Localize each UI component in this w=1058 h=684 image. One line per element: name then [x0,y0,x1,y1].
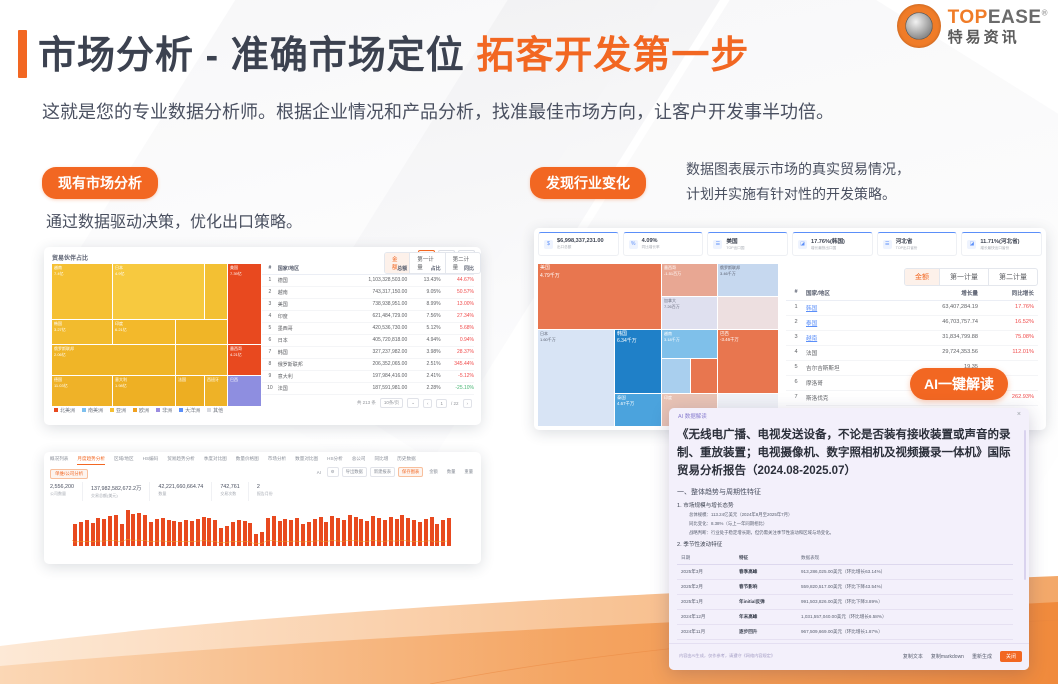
screenshot-monthly-trend-dashboard[interactable]: 概况列表 月度趋势分析 区域/地区 HS编码 贸易趋势分析 季度对比图 数量价格… [44,452,481,564]
col-growth: 增长量 [888,289,978,297]
report-bullet: 同比变化：8.38%（与上一年同期相比） [677,520,1021,527]
measure-quantity[interactable]: 数量 [444,468,459,476]
cell-total: 405,720,818.00 [335,337,408,344]
col-feature: 特征 [739,555,801,561]
stat-card[interactable]: ☰美国TOP出口国 [707,232,788,256]
caption-right: 数据图表展示市场的真实贸易情况， 计划并实施有针对性的开发策略。 [686,157,910,207]
cell-share: 7.56% [407,313,440,320]
cell-share: 9.05% [407,289,440,296]
page-subtitle: 这就是您的专业数据分析师。根据企业情况和产品分析，找准最佳市场方向，让客户开发事… [42,98,834,124]
cell-index: 7 [262,349,278,356]
kpi-row: 2,556,200公司数量 137,982,582,672.2万交易总额(美元)… [50,482,289,501]
report-bullet: 总体规模：113.24亿美元（2024年8月至2025年7月） [677,511,1021,518]
cell-country[interactable]: 斯洛伐克 [806,394,888,402]
page-title-highlight: 拓客开发第一步 [476,35,749,77]
export-button[interactable]: 导出数据 [342,467,367,477]
cell-total: 197,984,416.00 [335,373,408,380]
kpi-card: 742,761交易次数 [220,482,249,501]
cell-yoy: 0.94% [441,337,474,344]
treemap-cell-value: 4.67千万 [617,401,634,407]
col-data: 数据表现 [801,555,1013,561]
table-row[interactable]: 8俄罗斯联邦206,352,065.002.51%345.44% [262,359,474,371]
kpi-value: 2 [257,484,273,490]
treemap-cell-value: 7.26百万 [664,304,680,310]
cell-total: 743,317,150.00 [335,289,408,296]
measure-weight[interactable]: 重量 [461,468,476,476]
report-section-heading: 一、整体趋势与周期性特征 [677,487,1021,497]
treemap-cell[interactable]: 泰国4.67千万 [615,394,661,426]
treemap-cell-value: 7.4亿 [54,271,64,277]
percent-icon: % [629,240,638,249]
legend-label: 大洋洲 [185,408,200,414]
cell-data: 991,503,826.00美元（环比下降3.89%） [801,599,1013,605]
cell-total: 187,591,981.00 [335,385,408,392]
stat-card[interactable]: ◪11.71%(河北省)增长最快出口省份 [961,232,1042,256]
table-row[interactable]: 9意大利197,984,416.002.41%-5.12% [262,371,474,383]
cell-index: 4 [262,313,278,320]
cell-date: 2025年2月 [677,584,739,590]
cell-country: 德国 [278,277,335,284]
current-page[interactable]: 1 [436,399,447,408]
caption-right-line1: 数据图表展示市场的真实贸易情况， [686,157,910,182]
stat-label: 同比增长率 [642,245,660,250]
col-total: 总额 [335,265,408,272]
chart-icon: ◪ [798,240,807,249]
col-country: 国家/地区 [278,265,335,272]
cell-feature: 年末高峰 [739,614,801,620]
monthly-bar-chart[interactable] [72,510,452,554]
treemap-cell[interactable]: 法国 [176,376,204,406]
logo-top-orange: TOP [948,7,988,28]
kpi-card: 137,982,582,672.2万交易总额(美元) [91,482,150,501]
kpi-value: 42,221,660,664.74 [158,484,203,490]
copy-text-button[interactable]: 复制文本 [903,653,923,660]
segment-amount[interactable]: 金额 [905,269,940,285]
cell-index: 3 [786,334,806,342]
cell-total: 1,103,328,503.00 [335,277,408,284]
stat-card[interactable]: ◪17.76%(韩国)增长最快出口国 [792,232,873,256]
legend-label: 非洲 [162,408,172,414]
treemap-cell-value: 1.60千万 [540,337,556,343]
cell-yoy: 5.68% [441,325,474,332]
brand-logo: TOPEASE® 特易资讯 [897,4,1048,48]
report-subheading: 2. 季节性波动特征 [677,540,1021,548]
cell-share: 2.51% [407,361,440,368]
treemap-cell-label: 韩国 [617,331,627,337]
stat-value: 河北省 [896,237,918,245]
treemap-cell[interactable]: 美国4.79千万 [538,264,661,329]
col-date: 日期 [677,555,739,561]
treemap-cell-label: 美国 [540,265,550,271]
table-row[interactable]: 2泰国46,703,757.7416.52% [786,316,1038,331]
table-row[interactable]: 10法国187,591,981.002.28%-25.10% [262,383,474,395]
cell-index: 3 [262,301,278,308]
treemap-cell [176,345,227,375]
cell-data: 559,820,517.00美元（环比下降43.54%） [801,584,1013,590]
ai-icon[interactable]: AI [314,469,324,476]
table-row[interactable]: 7韩国327,237,982.003.98%28.37% [262,347,474,359]
tab-4[interactable]: 贸易趋势分析 [167,456,195,465]
treemap-cell-label: 法国 [178,377,186,383]
title-accent-bar [18,30,27,78]
treemap-cell-value: 6.34千万 [617,338,637,344]
cell-growth: 46,703,757.74 [888,319,978,327]
ai-report-dialog[interactable]: AI 数据解读 × 《无线电广播、电视发送设备，不论是否装有接收装置或声音的录制… [669,408,1029,670]
table-header: # 国家/地区 增长量 同比增长 [786,286,1038,301]
cell-share: 2.41% [407,373,440,380]
cell-yoy: 13.00% [441,301,474,308]
dialog-disclaimer: 内容由AI生成，仅作参考，请遵守《网络内容规定》 [679,653,775,659]
total-pages: / 22 [451,401,459,406]
cell-yoy: 27.34% [441,313,474,320]
treemap-cell[interactable]: 加拿大7.26百万 [662,297,717,329]
treemap-cell [176,320,227,344]
treemap-cell-value: 7.39亿 [230,271,242,277]
page-header: 市场分析 - 准确市场定位 拓客开发第一步 这就是您的专业数据分析师。根据企业情… [0,0,1058,140]
tab-12[interactable]: 历史数据 [397,456,415,465]
legend-item: 非洲 [156,407,172,414]
cell-country[interactable]: 摩洛哥 [806,379,888,387]
treemap-cell[interactable]: 越南3.18千万 [662,330,717,358]
legend-label: 北美洲 [60,408,75,414]
dollar-icon: $ [544,240,553,249]
dialog-header: AI 数据解读 × [669,408,1029,425]
cell-date: 2025年1月 [677,599,739,605]
legend-item: 大洋洲 [179,407,200,414]
treemap-cell[interactable]: 韩国6.34千万 [615,330,661,393]
cell-yoy: 112.01% [978,349,1034,357]
table-header: # 国家/地区 总额 占比 同比 [262,263,474,275]
screenshot-trade-partner-share[interactable]: 贸易伙伴占比 ▦ ⧉ ⤓ 越南7.4亿 日本4.9亿 美国7.39亿 韩国3.2… [44,247,481,425]
legend-item: 南美洲 [82,407,103,414]
stat-value: 美国 [726,237,744,245]
treemap-cell [691,359,717,393]
cell-date: 2024年12月 [677,614,739,620]
cell-data: 967,509,669.00美元（环比增长1.87%） [801,629,1013,635]
treemap-legend: 北美洲 南美洲 亚洲 欧洲 非洲 大洋洲 其他 [54,407,223,414]
tab-10[interactable]: 总公司 [352,456,366,465]
table-row[interactable]: 3美国738,938,951.008.99%13.00% [262,299,474,311]
treemap-cell[interactable]: 俄罗斯联邦3.46千万 [718,264,778,296]
chevron-down-icon[interactable]: ⌄ [407,398,419,408]
page-size-select[interactable]: 10条/页 [380,398,403,408]
table-row[interactable]: 4法国29,724,353.56112.01% [786,346,1038,361]
cell-feature: 春季高峰 [739,569,801,575]
kpi-value: 742,761 [220,484,240,490]
treemap-cell-label: 西班牙 [207,377,219,383]
cell-yoy: 50.57% [441,289,474,296]
kpi-card: 2,556,200公司数量 [50,482,83,501]
col-country: 国家/地区 [806,289,888,297]
cell-country: 韩国 [278,349,335,356]
stat-card[interactable]: ☰河北省TOP出口省份 [877,232,958,256]
cell-index: 4 [786,349,806,357]
kpi-label: 报告月份 [257,491,273,497]
stat-card[interactable]: %4.09%同比增长率 [623,232,704,256]
logo-cn-name: 特易资讯 [948,30,1048,45]
cell-feature: 年initial反弹 [739,599,801,605]
ai-interpret-badge[interactable]: AI一键解读 [910,368,1008,400]
legend-item: 北美洲 [54,407,75,414]
caption-left: 通过数据驱动决策，优化出口策略。 [46,208,302,232]
measure-amount[interactable]: 金额 [426,468,441,476]
stat-value: 11.71%(河北省) [980,237,1019,245]
treemap-cell[interactable]: 日本4.9亿 [113,264,204,319]
treemap-cell-label: 印度 [664,395,672,401]
cell-total: 420,536,730.00 [335,325,408,332]
badge-industry-change: 发现行业变化 [530,167,646,199]
cell-country: 印度 [278,313,335,320]
kpi-card: 2报告月份 [257,482,281,501]
treemap-cell-value: 6.21亿 [115,327,127,333]
list-icon: ☰ [713,240,722,249]
cell-yoy: 44.67% [441,277,474,284]
table-row: 2025年2月春节影响559,820,517.00美元（环比下降43.54%） [677,580,1013,595]
cell-feature: 春节影响 [739,584,801,590]
analysis-chip[interactable]: 单维/公司分析 [50,469,88,479]
tab-2[interactable]: 区域/地区 [114,456,134,465]
regenerate-button[interactable]: 重新生成 [972,653,992,660]
cell-yoy: 16.52% [978,319,1034,327]
chart-icon: ◪ [967,240,976,249]
kpi-label: 公司数量 [50,491,74,497]
cell-index: 6 [262,337,278,344]
close-button[interactable]: 关闭 [1000,651,1022,662]
legend-item: 亚洲 [110,407,126,414]
treemap-cell-value: 2.06亿 [54,352,66,358]
cell-country[interactable]: 法国 [806,349,888,357]
cell-index: 9 [262,373,278,380]
prev-page-button[interactable]: ‹ [423,399,433,408]
cell-index: 5 [262,325,278,332]
cell-country: 美国 [278,301,335,308]
measure-segmented-control[interactable]: 金额 第一计量 第二计量 [904,268,1038,286]
legend-label: 其他 [213,408,223,414]
cell-total: 327,237,982.00 [335,349,408,356]
report-bullet: 战略判断：行业处于稳定增长期，但仍需关注季节性波动和区域与场变化。 [677,529,1021,536]
legend-label: 亚洲 [116,408,126,414]
treemap-cell[interactable]: 巴西-3.46千万 [718,330,778,393]
legend-item: 欧洲 [133,407,149,414]
cell-share: 13.43% [407,277,440,284]
table-row: 2024年11月逐步回升967,509,669.00美元（环比增长1.87%） [677,625,1013,640]
cell-index: 6 [786,379,806,387]
logo-top-gray: EASE [988,7,1042,28]
cell-yoy: -5.12% [441,373,474,380]
stat-value: 17.76%(韩国) [811,237,845,245]
treemap-cell[interactable]: 德国11.03亿 [52,376,112,406]
cell-data: 913,286,025.00美元（环比增长63.14%） [801,569,1013,575]
tab-11[interactable]: 同比增 [375,456,389,465]
tab-5[interactable]: 季度对比图 [204,456,227,465]
tab-6[interactable]: 数量价格图 [236,456,259,465]
stat-label: 增长最快出口省份 [980,246,1019,251]
page-title-main: 市场分析 - 准确市场定位 [38,35,465,77]
treemap-cell-value: -1.51百万 [664,271,681,277]
treemap-cell-value: 3.27亿 [54,327,66,333]
tab-0[interactable]: 概况列表 [50,456,68,465]
table-row[interactable]: 3越南31,834,799.8875.08% [786,331,1038,346]
col-yoy: 同比 [441,265,474,272]
caption-right-line2: 计划并实施有针对性的开发策略。 [686,182,910,207]
stat-label: TOP出口省份 [896,246,918,251]
treemap-cell [718,297,778,329]
cell-total: 621,484,729.00 [335,313,408,320]
treemap-cell [205,264,227,319]
treemap-cell-label: 巴西 [230,377,238,383]
treemap-cell[interactable]: 俄罗斯联邦2.06亿 [52,345,175,375]
cell-yoy: 345.44% [441,361,474,368]
close-icon[interactable]: × [1017,411,1021,418]
badge-current-market-analysis: 现有市场分析 [42,167,158,199]
report-title: 《无线电广播、电视发送设备，不论是否装有接收装置或声音的录制、重放装置；电视摄像… [677,426,1021,480]
cell-yoy: 75.08% [978,334,1034,342]
tab-7[interactable]: 市场分析 [268,456,286,465]
treemap-cell[interactable]: 印度6.21亿 [113,320,175,344]
cell-date: 2025年3月 [677,569,739,575]
tab-1[interactable]: 月度趋势分析 [77,456,105,465]
kpi-label: 交易次数 [220,491,240,497]
cell-index: 5 [786,364,806,372]
table-pagination[interactable]: 共 213 条 10条/页 ⌄ ‹ 1 / 22 › [262,395,474,411]
trade-partner-table: # 国家/地区 总额 占比 同比 1德国1,103,328,503.0013.4… [262,263,474,411]
table-row[interactable]: 1韩国63,407,284.1917.76% [786,301,1038,316]
treemap-cell-value: 3.18千万 [664,337,680,343]
growth-treemap-chart: 美国4.79千万 墨西哥-1.51百万 加拿大7.26百万 俄罗斯联邦3.46千… [538,264,778,426]
cell-country[interactable]: 韩国 [806,304,888,312]
tab-8[interactable]: 数量对比图 [295,456,318,465]
treemap-cell-value: 4.21亿 [230,352,242,358]
cell-country: 墨西哥 [278,325,335,332]
cell-yoy: 17.76% [978,304,1034,312]
cell-country: 法国 [278,385,335,392]
copy-markdown-button[interactable]: 复制markdown [931,653,964,660]
table-row: 2025年3月春季高峰913,286,025.00美元（环比增长63.14%） [677,565,1013,580]
table-header: 日期 特征 数据表现 [677,552,1013,565]
table-row[interactable]: 4印度621,484,729.007.56%27.34% [262,311,474,323]
cell-country[interactable]: 泰国 [806,319,888,327]
dialog-footer: 内容由AI生成，仅作参考，请遵守《网络内容规定》 复制文本 复制markdown… [669,643,1029,670]
treemap-cell[interactable]: 意大利1.98亿 [113,376,175,406]
new-report-button[interactable]: 新建报表 [370,467,395,477]
treemap-cell[interactable]: 墨西哥4.21亿 [228,345,261,375]
kpi-label: 数量 [158,491,203,497]
stat-label: TOP出口国 [726,246,744,251]
logo-ring-icon [897,4,941,48]
cell-country: 俄罗斯联邦 [278,361,335,368]
dialog-body: 《无线电广播、电视发送设备，不论是否装有接收装置或声音的录制、重放装置；电视摄像… [677,426,1021,640]
cell-country: 日本 [278,337,335,344]
cell-index: 10 [262,385,278,392]
legend-label: 南美洲 [88,408,103,414]
kpi-value: 2,556,200 [50,484,74,490]
dashboard-actions[interactable]: AI ⚙ 导出数据 新建报表 保存图表 金额 数量 重量 [314,467,476,477]
legend-label: 欧洲 [139,408,149,414]
table-row[interactable]: 2越南743,317,150.009.05%50.57% [262,287,474,299]
cell-index: 8 [262,361,278,368]
treemap-cell[interactable]: 墨西哥-1.51百万 [662,264,717,296]
cell-country: 越南 [278,289,335,296]
kpi-value: 137,982,582,672.2万 [91,484,141,492]
list-icon: ☰ [883,240,892,249]
cell-index: 2 [786,319,806,327]
cell-total: 206,352,065.00 [335,361,408,368]
treemap-cell[interactable]: 日本1.60千万 [538,330,614,426]
report-table: 日期 特征 数据表现 2025年3月春季高峰913,286,025.00美元（环… [677,552,1013,640]
cell-total: 738,938,951.00 [335,301,408,308]
save-chart-button[interactable]: 保存图表 [398,467,423,477]
settings-icon[interactable]: ⚙ [327,467,339,477]
cell-growth: 31,834,799.88 [888,334,978,342]
segment-qty1[interactable]: 第一计量 [940,269,989,285]
cell-country[interactable]: 越南 [806,334,888,342]
cell-share: 4.94% [407,337,440,344]
stat-card[interactable]: $$6,998,337,231.00出口总额 [538,232,619,256]
tab-9[interactable]: HS分析 [327,456,343,465]
next-page-button[interactable]: › [463,399,473,408]
cell-yoy: 28.37% [441,349,474,356]
table-row[interactable]: 1德国1,103,328,503.0013.43%44.67% [262,275,474,287]
treemap-cell-value: 11.03亿 [54,383,68,389]
legend-item: 其他 [207,407,223,414]
treemap-cell-value: 4.9亿 [115,271,125,277]
stat-label: 出口总额 [557,245,604,250]
treemap-cell[interactable]: 美国7.39亿 [228,264,261,344]
stat-value: $6,998,337,231.00 [557,238,604,244]
treemap-cell-value: -3.46千万 [720,337,739,343]
cell-date: 2024年11月 [677,629,739,635]
logo-wordmark: TOPEASE® 特易资讯 [948,8,1048,45]
kpi-label: 交易总额(美元) [91,493,141,499]
table-row[interactable]: 5墨西哥420,536,730.005.12%5.68% [262,323,474,335]
treemap-chart: 越南7.4亿 日本4.9亿 美国7.39亿 韩国3.27亿 印度6.21亿 俄罗… [52,264,257,402]
table-row[interactable]: 6日本405,720,818.004.94%0.94% [262,335,474,347]
dialog-scrollbar[interactable] [1024,430,1026,580]
cell-country[interactable]: 吉尔吉斯斯坦 [806,364,888,372]
total-count: 共 213 条 [357,400,376,406]
dialog-actions[interactable]: 复制文本 复制markdown 重新生成 关闭 [903,651,1022,662]
trend-line [72,510,452,554]
cell-share: 3.98% [407,349,440,356]
cell-index: 7 [786,394,806,402]
dashboard-tabs[interactable]: 概况列表 月度趋势分析 区域/地区 HS编码 贸易趋势分析 季度对比图 数量价格… [50,456,416,465]
kpi-card: 42,221,660,664.74数量 [158,482,212,501]
treemap-cell[interactable]: 西班牙 [205,376,227,406]
treemap-cell [662,359,690,393]
stat-label: 增长最快出口国 [811,246,845,251]
treemap-cell[interactable]: 巴西 [228,376,261,406]
treemap-cell[interactable]: 韩国3.27亿 [52,320,112,344]
col-index: # [786,289,806,297]
cell-growth: 29,724,353.56 [888,349,978,357]
cell-share: 2.28% [407,385,440,392]
table-row: 2024年12月年末高峰1,031,557,040.00美元（环比增长6.58%… [677,610,1013,625]
tab-3[interactable]: HS编码 [143,456,159,465]
treemap-cell[interactable]: 越南7.4亿 [52,264,112,319]
table-row: 2025年1月年initial反弹991,503,826.00美元（环比下降3.… [677,595,1013,610]
cell-yoy: -25.10% [441,385,474,392]
treemap-cell-value: 3.46千万 [720,271,736,277]
treemap-cell-value: 1.98亿 [115,383,127,389]
cell-index: 1 [786,304,806,312]
page-title: 市场分析 - 准确市场定位 拓客开发第一步 [38,24,749,79]
stat-value: 4.09% [642,238,660,244]
cell-share: 8.99% [407,301,440,308]
cell-share: 5.12% [407,325,440,332]
cell-country: 意大利 [278,373,335,380]
cell-growth: 63,407,284.19 [888,304,978,312]
segment-qty2[interactable]: 第二计量 [989,269,1037,285]
